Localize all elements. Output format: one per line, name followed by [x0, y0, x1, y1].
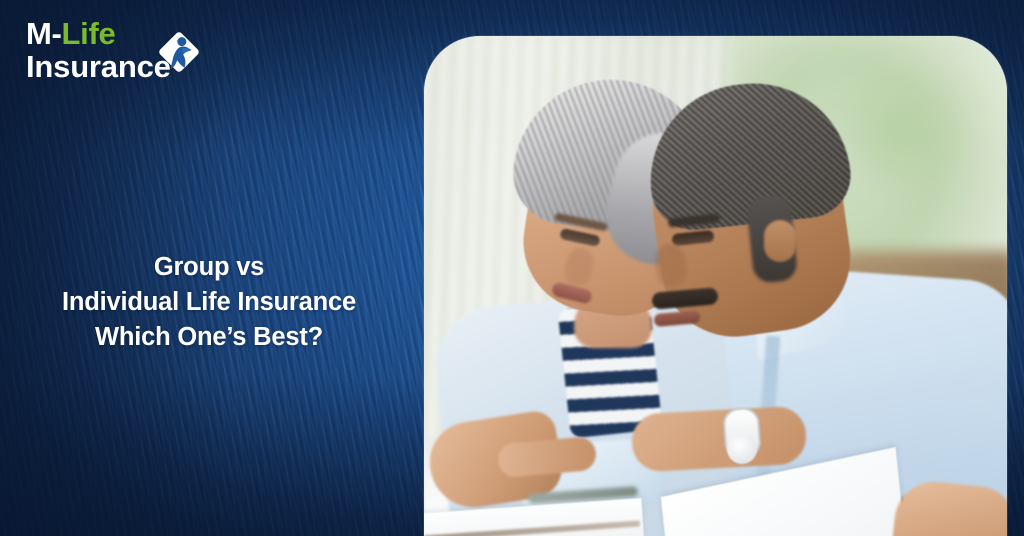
- hero-photo-image: [424, 36, 1007, 536]
- person-diamond-icon: [154, 27, 204, 77]
- headline-line-3: Which One’s Best?: [0, 320, 418, 355]
- wristwatch-face: [727, 434, 757, 464]
- brand-logo[interactable]: M-Life Insurance: [26, 18, 196, 94]
- page-title: Group vs Individual Life Insurance Which…: [0, 250, 418, 355]
- headline-line-1: Group vs: [0, 250, 418, 285]
- banner: M-Life Insurance Group vs Individual Lif…: [0, 0, 1024, 536]
- logo-text-m: M-: [26, 16, 62, 51]
- headline-line-2: Individual Life Insurance: [0, 285, 418, 320]
- woman-hands: [631, 405, 808, 472]
- hero-photo: [424, 36, 1007, 536]
- man-ear: [764, 220, 796, 262]
- logo-text-life: Life: [62, 16, 116, 51]
